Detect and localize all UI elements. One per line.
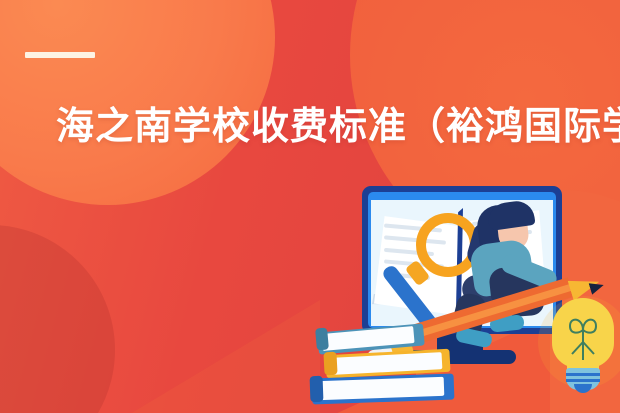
book-stack-bottom-spine-icon [310, 376, 324, 402]
study-research-illustration [312, 178, 620, 413]
lightbulb-filament-icon [552, 296, 614, 368]
book-stack-top-spine-icon [315, 328, 329, 351]
lightbulb-ring-icon [566, 373, 600, 376]
book-stack-middle-spine-icon [323, 352, 337, 376]
decorative-rule [25, 52, 95, 58]
promo-banner: 海之南学校收费标准（裕鸿国际学校 [0, 0, 620, 413]
lightbulb-ring-icon [566, 379, 600, 382]
lightbulb-tip-icon [574, 384, 592, 393]
page-title: 海之南学校收费标准（裕鸿国际学校 [56, 102, 620, 152]
